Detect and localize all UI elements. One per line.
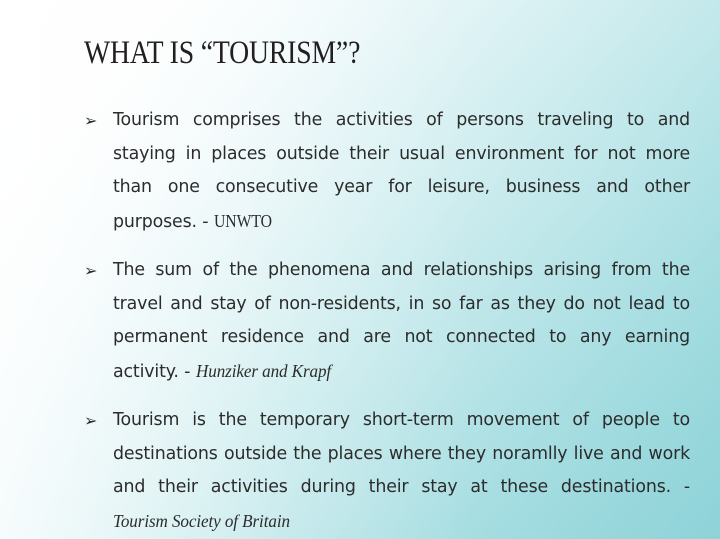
bullet-list: ➢ Tourism comprises the activities of pe…: [84, 104, 690, 539]
list-item: ➢ Tourism comprises the activities of pe…: [84, 104, 690, 239]
list-item: ➢ The sum of the phenomena and relations…: [84, 254, 690, 389]
page-title: WHAT IS “TOURISM”?: [84, 36, 360, 71]
arrow-bullet-icon: ➢: [84, 104, 106, 138]
slide-content: WHAT IS “TOURISM”? ➢ Tourism comprises t…: [0, 0, 720, 539]
list-item: ➢ Tourism is the temporary short-term mo…: [84, 404, 690, 539]
list-item-attribution: Tourism Society of Britain: [113, 505, 290, 539]
arrow-bullet-icon: ➢: [84, 254, 106, 288]
list-item-text: Tourism is the temporary short-term move…: [113, 410, 690, 497]
list-item-text: Tourism comprises the activities of pers…: [113, 110, 690, 232]
arrow-bullet-icon: ➢: [84, 404, 106, 438]
list-item-attribution: Hunziker and Krapf: [196, 355, 331, 389]
list-item-attribution: UNWTO: [214, 205, 272, 239]
presentation-slide: WHAT IS “TOURISM”? ➢ Tourism comprises t…: [0, 0, 720, 539]
